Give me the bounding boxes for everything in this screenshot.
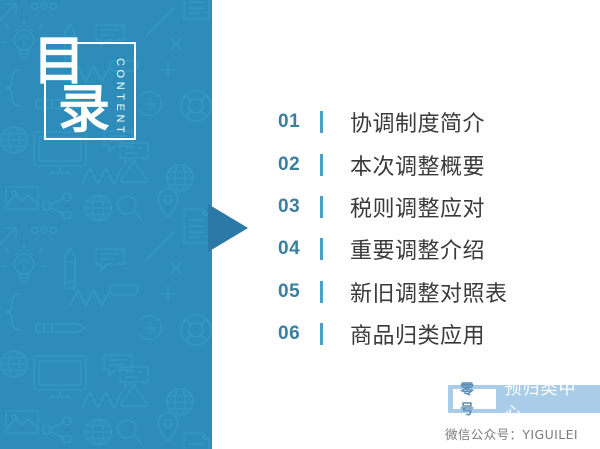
- toc-label: 本次调整概要: [350, 149, 485, 181]
- content-label-vertical: CONTENT: [112, 58, 126, 138]
- toc-divider-icon: [320, 154, 323, 176]
- toc-number: 02: [278, 154, 316, 176]
- toc-number: 03: [278, 196, 316, 218]
- slide-root: 目 录 CONTENT 01 协调制度简介 02 本次调整概要 03 税则调整应…: [0, 0, 600, 449]
- brand-name-text: 预归类中心: [496, 385, 600, 413]
- toc-item-03[interactable]: 03 税则调整应对: [278, 186, 578, 228]
- toc-item-01[interactable]: 01 协调制度简介: [278, 101, 578, 143]
- toc-number: 04: [278, 238, 316, 260]
- toc-item-06[interactable]: 06 商品归类应用: [278, 313, 578, 355]
- toc-item-04[interactable]: 04 重要调整介绍: [278, 228, 578, 270]
- arrow-pointer-icon: [208, 204, 248, 252]
- toc-item-02[interactable]: 02 本次调整概要: [278, 143, 578, 185]
- toc-label: 协调制度简介: [350, 106, 485, 138]
- toc-divider-icon: [320, 323, 323, 345]
- title-char-lu: 录: [58, 84, 110, 136]
- table-of-contents: 01 协调制度简介 02 本次调整概要 03 税则调整应对 04 重要调整介绍 …: [278, 101, 578, 355]
- wechat-account-line: 微信公众号：YIGUILEI: [445, 424, 578, 443]
- toc-item-05[interactable]: 05 新旧调整对照表: [278, 271, 578, 313]
- toc-number: 01: [278, 111, 316, 133]
- brand-logo: 零号 预归类中心: [448, 385, 600, 413]
- toc-label: 新旧调整对照表: [350, 276, 508, 308]
- toc-number: 05: [278, 281, 316, 303]
- toc-divider-icon: [320, 196, 323, 218]
- toc-label: 重要调整介绍: [350, 233, 485, 265]
- brand-mark-text: 零号: [453, 389, 496, 409]
- left-decorative-panel: 目 录 CONTENT: [0, 0, 212, 449]
- toc-divider-icon: [320, 238, 323, 260]
- toc-label: 税则调整应对: [350, 191, 485, 223]
- toc-number: 06: [278, 323, 316, 345]
- toc-divider-icon: [320, 111, 323, 133]
- toc-label: 商品归类应用: [350, 318, 485, 350]
- toc-divider-icon: [320, 281, 323, 303]
